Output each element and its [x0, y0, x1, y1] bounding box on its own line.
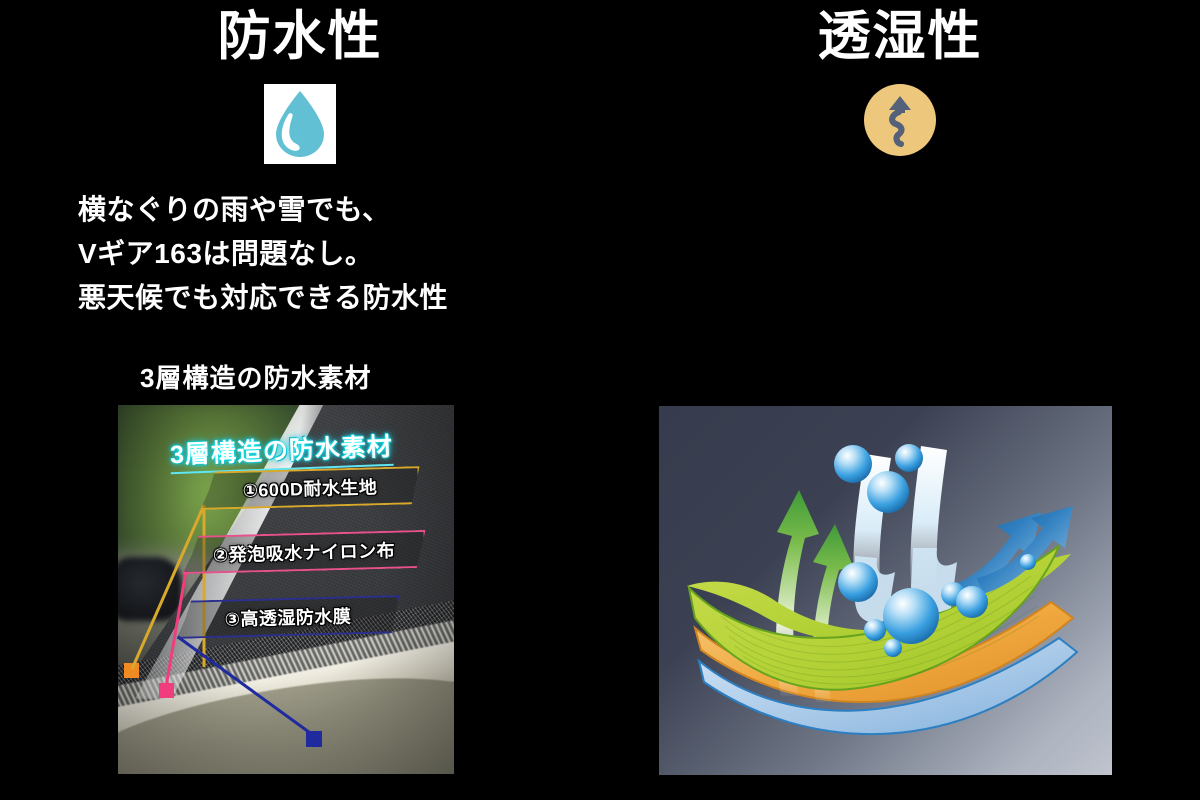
breathability-icon-wrap	[864, 84, 936, 156]
wavy-up-arrow-icon	[877, 93, 923, 147]
droplet	[1020, 554, 1036, 570]
water-drop-icon-wrap	[264, 84, 336, 164]
right-heading-breathability: 透湿性	[600, 6, 1200, 68]
left-body-text: 横なぐりの雨や雪でも、 Vギア163は問題なし。 悪天候でも対応できる防水性	[78, 188, 448, 320]
droplet	[838, 562, 878, 602]
droplet	[895, 444, 923, 472]
breathability-illustration: 3層ファブリック断面イラスト	[659, 406, 1112, 775]
water-drop-badge	[264, 84, 336, 164]
droplet	[864, 619, 886, 641]
droplet	[834, 445, 872, 483]
droplet	[884, 639, 902, 657]
callout-layer-2: ②発泡吸水ナイロン布	[182, 530, 427, 574]
callout-layer-1: ①600D耐水生地	[200, 466, 421, 510]
callout-layer-3: ③高透湿防水膜	[176, 595, 401, 639]
droplet	[883, 588, 939, 644]
water-drop-icon	[271, 89, 329, 159]
waterproof-material-photo: 3層構造の防水素材 ①600D耐水生地 ②発泡吸水ナイロン布 ③高透湿防水膜	[118, 405, 454, 774]
droplet	[867, 471, 909, 513]
breathability-badge	[864, 84, 936, 156]
left-heading-waterproof: 防水性	[0, 6, 600, 68]
slide-root: 防水性 横なぐりの雨や雪でも、 Vギア163は問題なし。 悪天候でも対応できる防…	[0, 0, 1200, 800]
left-photo-caption: 3層構造の防水素材	[140, 358, 371, 395]
droplet	[956, 586, 988, 618]
three-layer-fabric-diagram	[659, 406, 1112, 775]
